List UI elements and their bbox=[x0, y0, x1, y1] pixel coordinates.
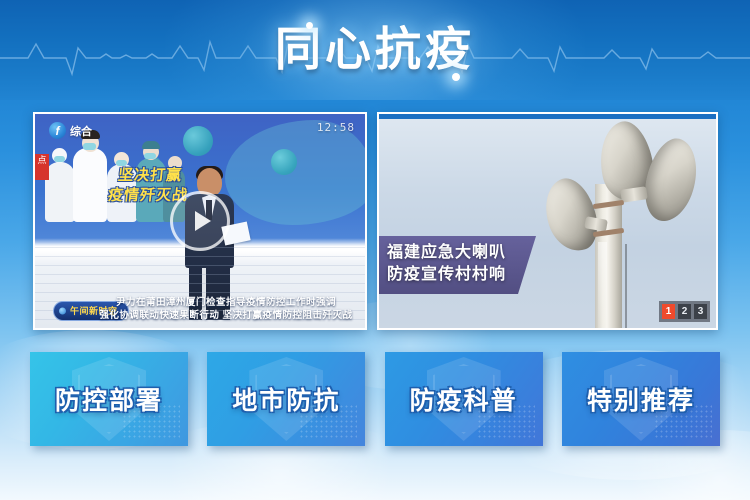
sparkle-icon bbox=[452, 73, 460, 81]
play-icon bbox=[195, 211, 211, 231]
broadcast-clock: 12:58 bbox=[317, 121, 355, 134]
sparkle-icon bbox=[306, 22, 313, 29]
play-button[interactable] bbox=[170, 191, 230, 251]
news-ticker-line1: 尹力在莆田漳州厦门检查指导疫情防控工作时强调 bbox=[87, 296, 365, 309]
carousel-pagination[interactable]: 1 2 3 bbox=[659, 301, 710, 322]
red-corner-tag: 点 bbox=[35, 154, 49, 180]
video-card-right[interactable]: 福建应急大喇叭 防疫宣传村村响 1 2 3 bbox=[377, 112, 718, 330]
virus-icon bbox=[271, 149, 297, 175]
category-nav: 防控部署 地市防抗 防疫科普 特别推荐 bbox=[30, 352, 720, 446]
channel-logo: f 综合 bbox=[49, 122, 92, 139]
news-ticker: 尹力在莆田漳州厦门检查指导疫情防控工作时强调 强化协调联动快速果断行动 坚决打赢… bbox=[35, 296, 365, 322]
nav-button-special-recommendation[interactable]: 特别推荐 bbox=[562, 352, 720, 446]
pagination-dot-2[interactable]: 2 bbox=[678, 304, 691, 319]
nav-button-label: 防控部署 bbox=[55, 381, 163, 417]
page-header: 同心抗疫 bbox=[0, 0, 750, 100]
video-caption-banner: 福建应急大喇叭 防疫宣传村村响 bbox=[379, 236, 536, 294]
speaker-wire bbox=[625, 244, 627, 330]
page-title: 同心抗疫 bbox=[0, 20, 750, 78]
nav-button-city-response[interactable]: 地市防抗 bbox=[207, 352, 365, 446]
nav-button-epidemic-science[interactable]: 防疫科普 bbox=[385, 352, 543, 446]
virus-icon bbox=[183, 126, 213, 156]
nav-button-prevention-deployment[interactable]: 防控部署 bbox=[30, 352, 188, 446]
video-caption-line1: 福建应急大喇叭 bbox=[387, 242, 506, 264]
nav-button-label: 地市防抗 bbox=[232, 381, 340, 417]
video-caption-line2: 防疫宣传村村响 bbox=[387, 264, 506, 286]
news-ticker-line2: 强化协调联动快速果断行动 坚决打赢疫情防控阻击歼灭战 bbox=[87, 309, 365, 322]
pagination-dot-1[interactable]: 1 bbox=[662, 304, 675, 319]
nav-button-label: 特别推荐 bbox=[587, 381, 695, 417]
pagination-dot-3[interactable]: 3 bbox=[694, 304, 707, 319]
channel-logo-text: 综合 bbox=[70, 123, 92, 139]
video-card-left[interactable]: 点 坚决打赢 疫情歼灭战 f 综合 12:58 bbox=[33, 112, 367, 330]
broadcast-slogan-line1: 坚决打赢 bbox=[117, 167, 183, 184]
nav-button-label: 防疫科普 bbox=[410, 381, 518, 417]
video-panels: 点 坚决打赢 疫情歼灭战 f 综合 12:58 bbox=[33, 112, 718, 330]
channel-logo-mark: f bbox=[49, 122, 66, 139]
covid-topic-page: 同心抗疫 bbox=[0, 0, 750, 500]
panel-top-bar bbox=[379, 114, 716, 119]
